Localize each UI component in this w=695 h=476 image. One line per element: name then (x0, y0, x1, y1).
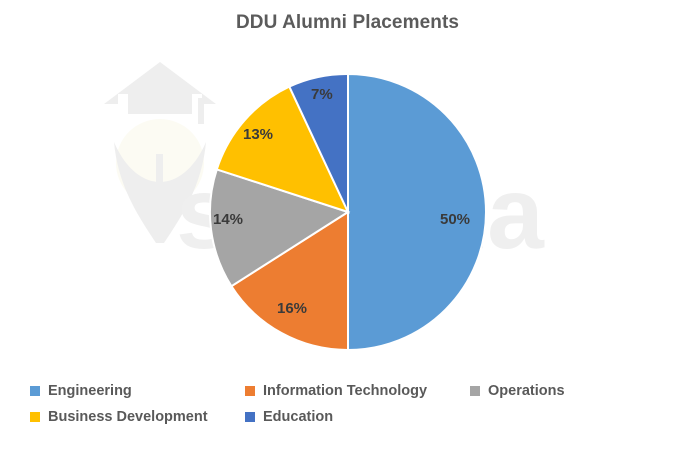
legend-item-engineering[interactable]: Engineering (30, 378, 245, 404)
legend-row: Engineering Information Technology Opera… (30, 378, 670, 404)
legend-label-business-development: Business Development (48, 409, 208, 425)
pie-chart-figure: shiksha DDU Alumni Placements 50% 16% 14… (0, 0, 695, 476)
legend-label-engineering: Engineering (48, 383, 132, 399)
legend-label-information-technology: Information Technology (263, 383, 427, 399)
legend-item-operations[interactable]: Operations (470, 378, 565, 404)
slice-label-engineering: 50% (440, 211, 470, 228)
legend-swatch-icon-engineering (30, 386, 40, 396)
slice-label-operations: 14% (213, 211, 243, 228)
slice-label-business-development: 13% (243, 126, 273, 143)
pie-area: 50% 16% 14% 13% 7% (0, 0, 695, 370)
legend-item-information-technology[interactable]: Information Technology (245, 378, 470, 404)
legend-swatch-icon-education (245, 412, 255, 422)
legend-item-education[interactable]: Education (245, 404, 333, 430)
slice-label-information-technology: 16% (277, 300, 307, 317)
legend-swatch-icon-operations (470, 386, 480, 396)
slice-label-education: 7% (311, 86, 333, 103)
legend-label-education: Education (263, 409, 333, 425)
legend-swatch-icon-information-technology (245, 386, 255, 396)
legend-item-business-development[interactable]: Business Development (30, 404, 245, 430)
legend-swatch-icon-business-development (30, 412, 40, 422)
legend-label-operations: Operations (488, 383, 565, 399)
legend: Engineering Information Technology Opera… (30, 378, 670, 430)
pie-svg (0, 0, 695, 370)
legend-row: Business Development Education (30, 404, 670, 430)
